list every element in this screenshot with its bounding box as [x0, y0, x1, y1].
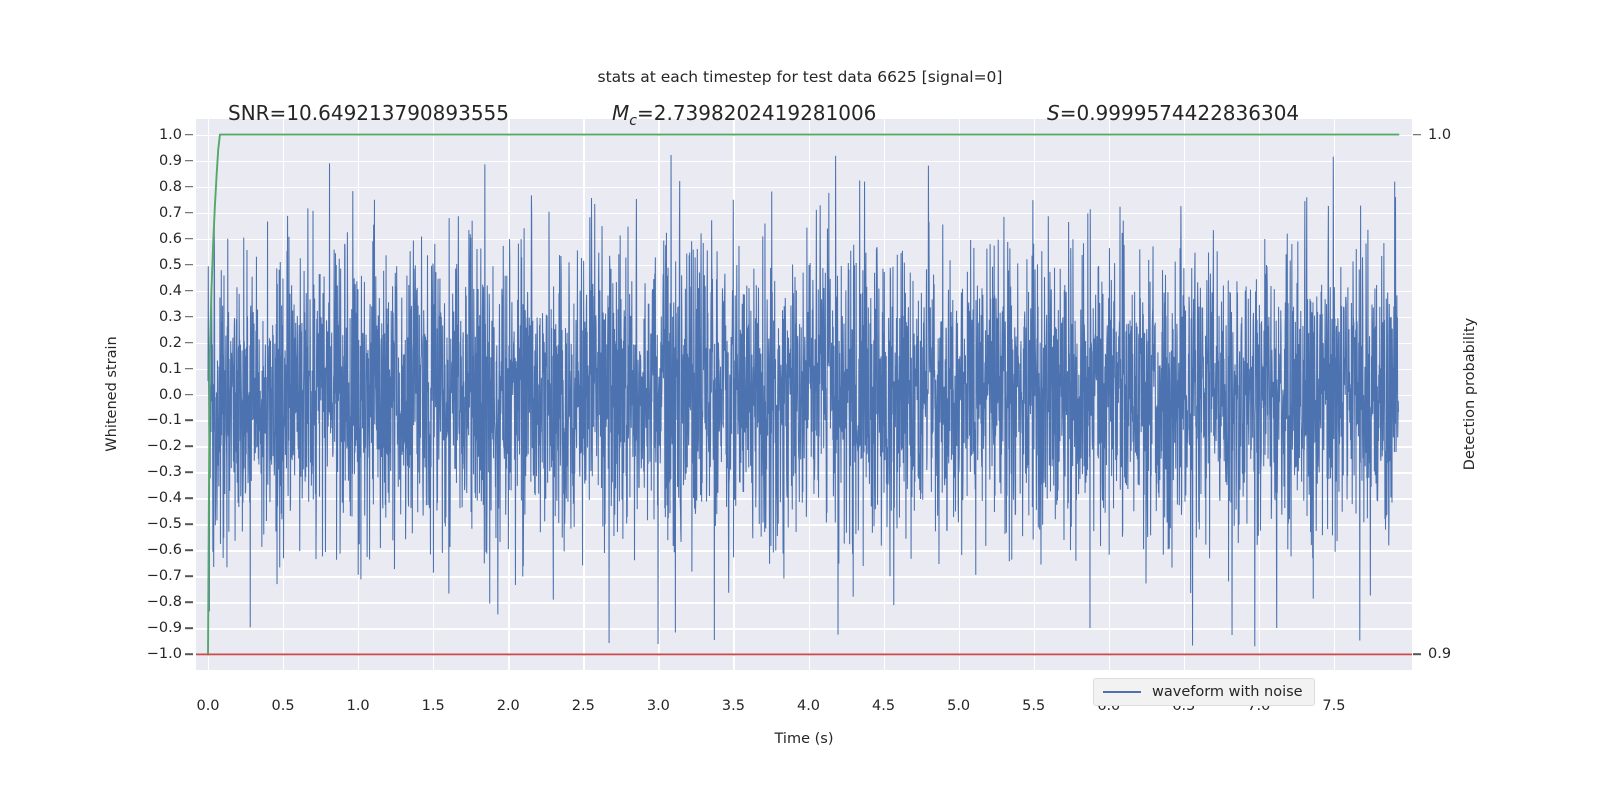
x-axis-tick-label: 1.5 — [422, 698, 445, 714]
y-axis-right-tick-mark — [1413, 654, 1421, 656]
x-axis-tick-label: 5.0 — [947, 698, 970, 714]
y-axis-left-tick-mark — [185, 550, 193, 552]
y-axis-left-tick-mark — [185, 602, 193, 604]
figure-canvas: stats at each timestep for test data 662… — [0, 0, 1600, 800]
y-axis-left-tick-label: −0.1 — [147, 412, 182, 428]
chart-title: stats at each timestep for test data 662… — [0, 68, 1600, 86]
y-axis-left-tick-mark — [185, 212, 193, 214]
y-axis-left-tick-mark — [185, 316, 193, 318]
y-axis-left-tick-label: −0.5 — [147, 516, 182, 532]
legend-swatch-waveform — [1103, 691, 1141, 693]
y-axis-left-tick-label: −0.7 — [147, 568, 182, 584]
y-axis-left-tick-label: −0.6 — [147, 542, 182, 558]
y-axis-left-tick-label: 0.8 — [159, 179, 182, 195]
y-axis-right-tick-label: 1.0 — [1428, 127, 1451, 143]
y-axis-left-tick-label: −0.8 — [147, 594, 182, 610]
x-axis-tick-label: 3.5 — [722, 698, 745, 714]
x-axis-tick-label: 0.5 — [272, 698, 295, 714]
annotation-chirp-mass-value: 2.7398202419281006 — [654, 101, 877, 125]
x-axis-tick-label: 0.0 — [196, 698, 219, 714]
y-axis-left-tick-mark — [185, 524, 193, 526]
y-axis-left-tick-label: 0.9 — [159, 153, 182, 169]
y-axis-left-tick-label: −0.3 — [147, 464, 182, 480]
y-axis-left-tick-label: 0.2 — [159, 335, 182, 351]
annotation-snr: SNR=10.649213790893555 — [228, 101, 509, 125]
y-axis-right-tick-mark — [1413, 134, 1421, 136]
y-axis-left-tick-label: 0.3 — [159, 309, 182, 325]
y-axis-left-tick-mark — [185, 576, 193, 578]
y-axis-left-tick-mark — [185, 160, 193, 162]
y-axis-right-tick-label: 0.9 — [1428, 646, 1451, 662]
x-axis-tick-label: 1.0 — [347, 698, 370, 714]
y-axis-left-tick-label: −1.0 — [147, 646, 182, 662]
y-axis-left-tick-mark — [185, 134, 193, 136]
annotation-snr-value: 10.649213790893555 — [286, 101, 509, 125]
x-axis-label: Time (s) — [775, 731, 834, 747]
y-axis-left-tick-label: 0.6 — [159, 231, 182, 247]
y-axis-left-tick-mark — [185, 498, 193, 500]
legend-label-waveform: waveform with noise — [1152, 684, 1303, 700]
y-axis-left-tick-mark — [185, 186, 193, 188]
annotation-chirp-mass: Mc=2.7398202419281006 — [612, 101, 876, 129]
y-axis-left-tick-label: 0.4 — [159, 283, 182, 299]
y-axis-left-tick-label: 0.0 — [159, 387, 182, 403]
y-axis-left-tick-mark — [185, 446, 193, 448]
x-axis-tick-label: 4.5 — [872, 698, 895, 714]
y-axis-left-tick-mark — [185, 654, 193, 656]
x-axis-tick-label: 2.5 — [572, 698, 595, 714]
y-axis-left-tick-mark — [185, 394, 193, 396]
y-axis-right-label: Detection probability — [1462, 318, 1478, 470]
y-axis-left-tick-label: 0.5 — [159, 257, 182, 273]
y-axis-left-tick-label: −0.4 — [147, 490, 182, 506]
y-axis-left-tick-label: 0.7 — [159, 205, 182, 221]
x-axis-tick-label: 3.0 — [647, 698, 670, 714]
x-axis-tick-label: 5.5 — [1022, 698, 1045, 714]
y-axis-left-tick-label: −0.2 — [147, 438, 182, 454]
y-axis-left-tick-mark — [185, 290, 193, 292]
x-axis-tick-label: 7.5 — [1322, 698, 1345, 714]
y-axis-left-tick-label: 0.1 — [159, 361, 182, 377]
plot-area[interactable] — [196, 119, 1412, 670]
y-axis-left-tick-mark — [185, 628, 193, 630]
y-axis-left-tick-mark — [185, 368, 193, 370]
x-axis-tick-label: 2.0 — [497, 698, 520, 714]
y-axis-left-label: Whitened strain — [104, 336, 120, 451]
y-axis-left-tick-mark — [185, 420, 193, 422]
y-axis-left-tick-label: 1.0 — [159, 127, 182, 143]
y-axis-left-tick-mark — [185, 342, 193, 344]
x-axis-tick-label: 4.0 — [797, 698, 820, 714]
y-axis-left-tick-mark — [185, 238, 193, 240]
y-axis-left-tick-mark — [185, 472, 193, 474]
y-axis-left-tick-mark — [185, 264, 193, 266]
legend[interactable]: waveform with noise — [1093, 678, 1315, 706]
annotation-significance: S=0.9999574422836304 — [1047, 101, 1299, 125]
y-axis-left-tick-label: −0.9 — [147, 620, 182, 636]
annotation-significance-value: 0.9999574422836304 — [1076, 101, 1299, 125]
detection-threshold-line — [196, 119, 1412, 670]
